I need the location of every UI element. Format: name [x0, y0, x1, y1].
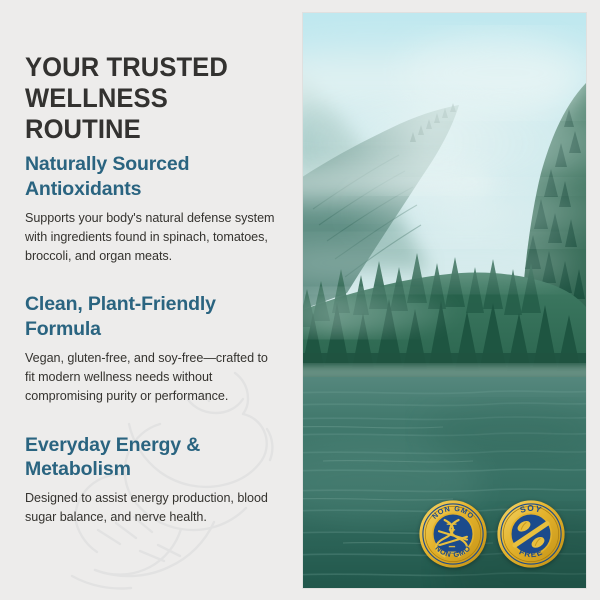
- headline-line-1: YOUR TRUSTED: [25, 52, 228, 82]
- content-column: YOUR TRUSTED WELLNESS ROUTINE Naturally …: [0, 0, 302, 600]
- headline-line-2: WELLNESS ROUTINE: [25, 83, 168, 144]
- feature-item-antioxidants: Naturally Sourced Antioxidants Supports …: [25, 152, 280, 266]
- feature-body: Supports your body's natural defense sys…: [25, 209, 280, 267]
- feature-list: Naturally Sourced Antioxidants Supports …: [25, 152, 280, 528]
- feature-title: Everyday Energy & Metabolism: [25, 433, 280, 483]
- certification-badge-group: NON GMO NON GMO: [418, 498, 570, 570]
- feature-body: Vegan, gluten-free, and soy-free—crafted…: [25, 349, 280, 407]
- page-title: YOUR TRUSTED WELLNESS ROUTINE: [25, 52, 278, 145]
- soy-free-badge-icon[interactable]: SOY FREE: [496, 499, 566, 569]
- feature-body: Designed to assist energy production, bl…: [25, 489, 280, 528]
- non-gmo-badge-icon[interactable]: NON GMO NON GMO: [418, 499, 488, 569]
- feature-item-plant-friendly: Clean, Plant-Friendly Formula Vegan, glu…: [25, 292, 280, 406]
- infographic-canvas: YOUR TRUSTED WELLNESS ROUTINE Naturally …: [0, 0, 600, 600]
- feature-title: Naturally Sourced Antioxidants: [25, 152, 280, 202]
- feature-item-energy-metabolism: Everyday Energy & Metabolism Designed to…: [25, 433, 280, 528]
- feature-title: Clean, Plant-Friendly Formula: [25, 292, 280, 342]
